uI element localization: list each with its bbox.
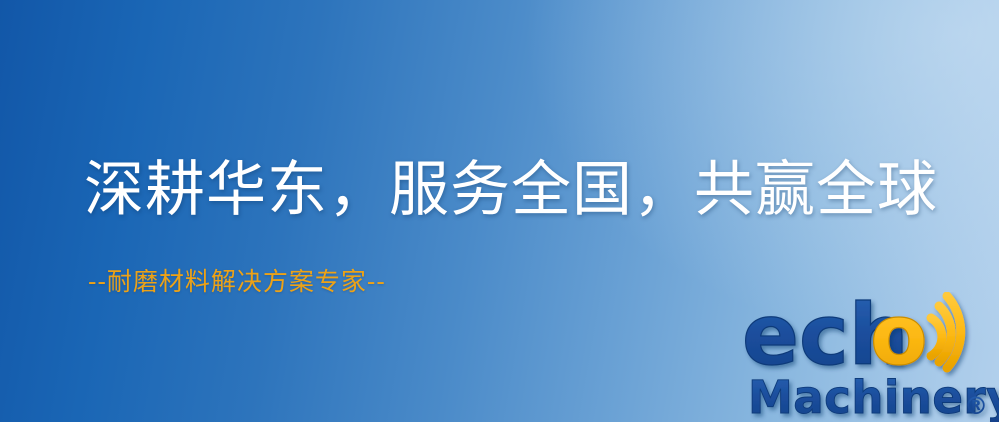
banner-subheadline: --耐磨材料解决方案专家--	[88, 266, 386, 298]
logo-tagline-group: Machinery ®	[748, 371, 999, 422]
logo-text-machinery: Machinery	[748, 371, 999, 422]
banner-headline: 深耕华东，服务全国，共赢全球	[84, 155, 938, 225]
registered-trademark-icon: ®	[964, 392, 988, 420]
echo-machinery-logo[interactable]: ech o Machinery ®	[742, 292, 999, 422]
wifi-arcs-icon	[931, 296, 961, 368]
promo-banner: 深耕华东，服务全国，共赢全球 --耐磨材料解决方案专家--	[0, 0, 999, 422]
logo-graphic: ech o Machinery ®	[742, 292, 999, 422]
